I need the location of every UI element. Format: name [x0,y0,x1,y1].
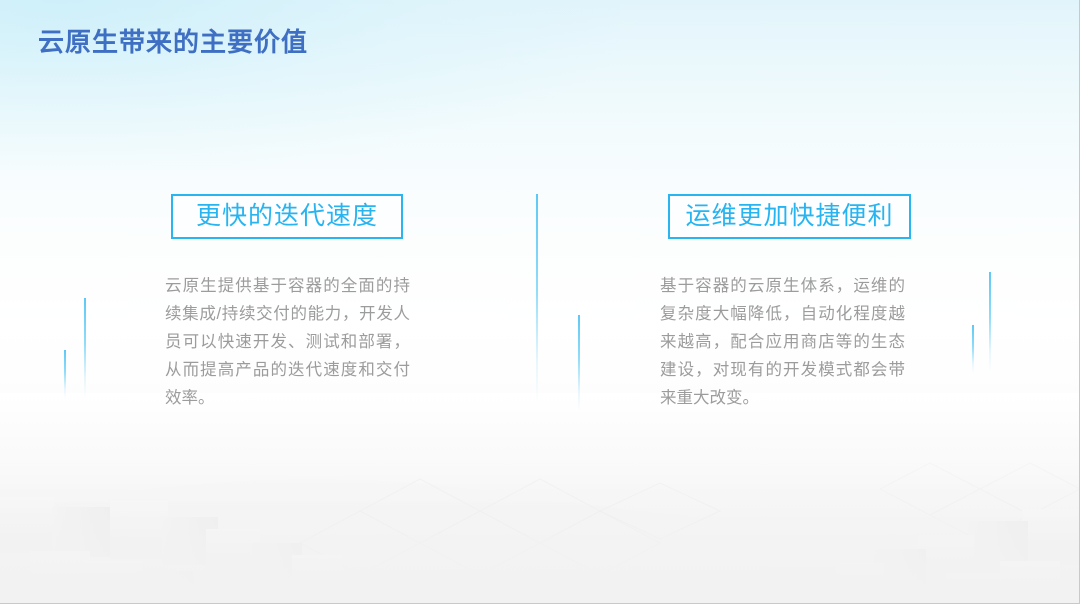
value-heading-box-2: 运维更加快捷便利 [668,194,911,239]
decorative-vertical-line-5 [972,325,974,373]
value-heading-box-1: 更快的迭代速度 [171,194,403,239]
decorative-vertical-line-1 [64,350,66,398]
scenery-svg [0,393,1080,603]
decorative-vertical-line-2 [84,298,86,398]
decorative-vertical-line-3 [536,194,538,404]
value-heading-label-1: 更快的迭代速度 [196,204,378,229]
decorative-vertical-line-4 [578,315,580,411]
scenery-haze [0,393,1080,603]
page-title: 云原生带来的主要价值 [38,22,308,59]
value-heading-label-2: 运维更加快捷便利 [685,204,893,229]
background-3d-landscape-graphic [0,393,1080,603]
value-body-text-2: 基于容器的云原生体系，运维的复杂度大幅降低，自动化程度越来越高，配合应用商店等的… [660,272,905,412]
value-body-text-1: 云原生提供基于容器的全面的持续集成/持续交付的能力，开发人员可以快速开发、测试和… [165,272,410,412]
decorative-vertical-line-6 [989,272,991,372]
slide-canvas: 云原生带来的主要价值 更快的迭代速度 云原生提供基于容器的全面的持续集成/持续交… [0,0,1080,604]
